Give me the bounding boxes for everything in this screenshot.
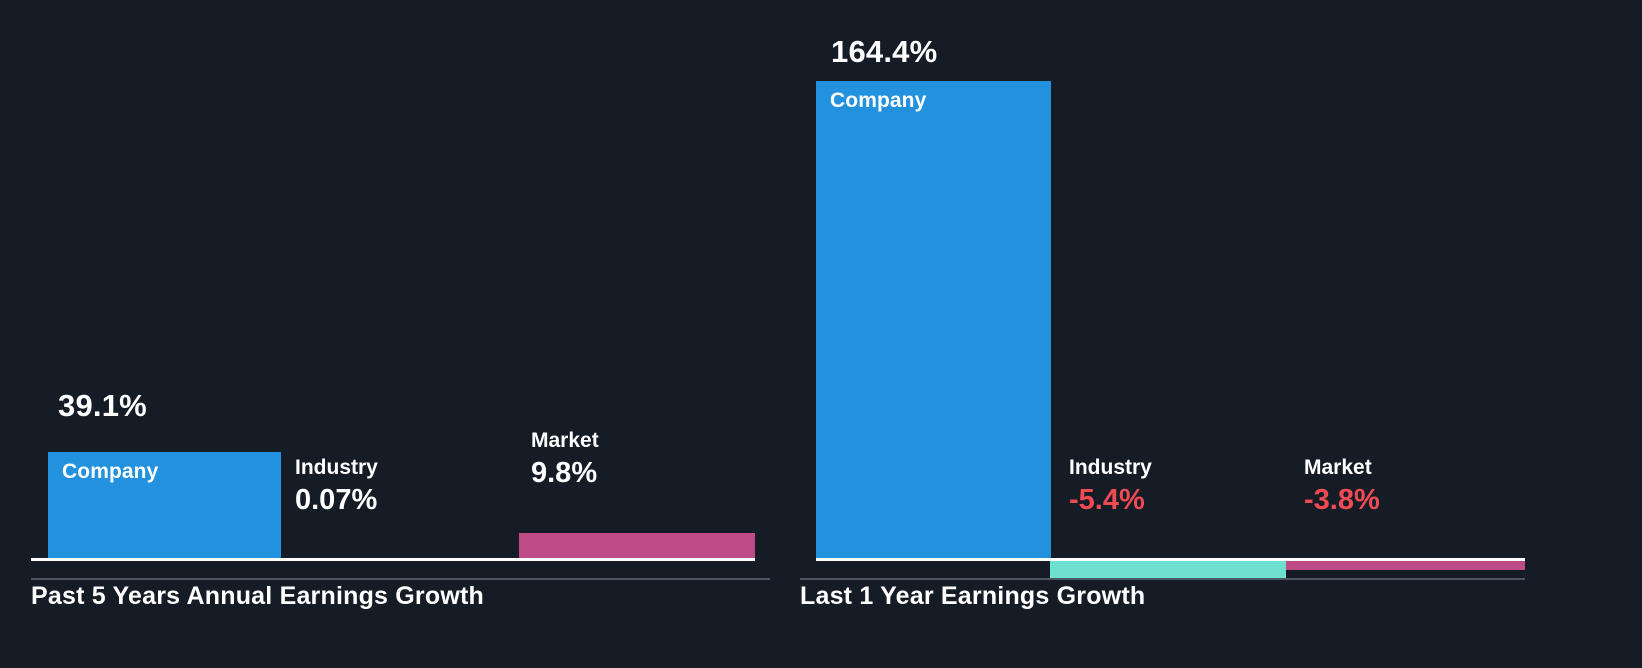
chart-title-left: Past 5 Years Annual Earnings Growth bbox=[31, 582, 484, 611]
bar-market-right bbox=[1286, 560, 1525, 570]
company-value-label-left: 39.1% bbox=[58, 388, 147, 424]
chart-last-1-year: 164.4% Company Industry -5.4% Market -3.… bbox=[800, 0, 1642, 668]
bar-industry-right bbox=[1050, 560, 1286, 579]
bar-company-left: Company bbox=[48, 452, 281, 560]
market-value-label-left: 9.8% bbox=[531, 454, 599, 492]
plot-area-right: 164.4% Company Industry -5.4% Market -3.… bbox=[800, 0, 1642, 560]
axis-rule-right bbox=[800, 578, 1525, 580]
axis-rule-left bbox=[31, 578, 770, 580]
industry-label-group-left: Industry 0.07% bbox=[295, 455, 378, 519]
market-label-group-left: Market 9.8% bbox=[531, 428, 599, 492]
company-bar-inner-label-right: Company bbox=[830, 89, 926, 113]
market-name-label-left: Market bbox=[531, 428, 599, 454]
company-bar-inner-label-left: Company bbox=[62, 460, 158, 484]
chart-past-5-years: 39.1% Company Industry 0.07% Market 9.8%… bbox=[0, 0, 800, 668]
market-value-label-right: -3.8% bbox=[1304, 481, 1380, 519]
chart-title-right: Last 1 Year Earnings Growth bbox=[800, 582, 1145, 611]
industry-name-label-left: Industry bbox=[295, 455, 378, 481]
bar-market-left bbox=[519, 533, 755, 560]
market-label-group-right: Market -3.8% bbox=[1304, 455, 1380, 519]
earnings-growth-chart-figure: 39.1% Company Industry 0.07% Market 9.8%… bbox=[0, 0, 1642, 668]
industry-value-label-left: 0.07% bbox=[295, 481, 378, 519]
company-value-label-right: 164.4% bbox=[831, 34, 937, 70]
plot-area-left: 39.1% Company Industry 0.07% Market 9.8% bbox=[0, 0, 800, 560]
industry-label-group-right: Industry -5.4% bbox=[1069, 455, 1152, 519]
bar-company-right: Company bbox=[816, 81, 1051, 560]
baseline-left bbox=[31, 558, 755, 561]
industry-value-label-right: -5.4% bbox=[1069, 481, 1152, 519]
industry-name-label-right: Industry bbox=[1069, 455, 1152, 481]
market-name-label-right: Market bbox=[1304, 455, 1380, 481]
baseline-right bbox=[816, 558, 1525, 561]
